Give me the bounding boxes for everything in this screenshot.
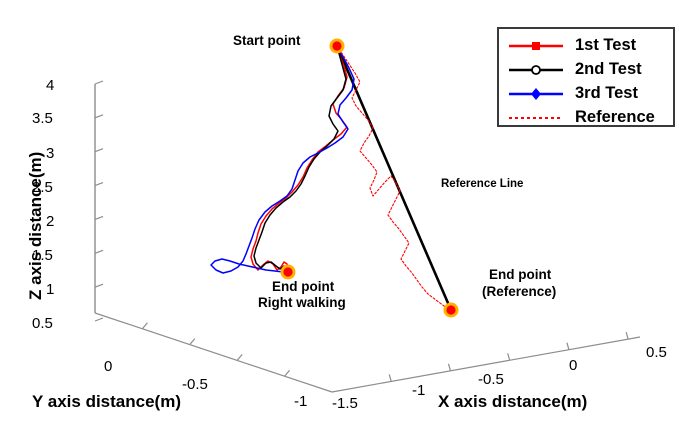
legend-label-3: Reference [575, 108, 655, 127]
legend-item-3[interactable]: Reference [499, 105, 673, 130]
z-tick-mark-2 [95, 149, 103, 152]
legend-item-0[interactable]: 1st Test [499, 33, 673, 58]
z-tick-mark-0 [95, 81, 103, 84]
reference-end-point-sublabel: (Reference) [482, 284, 556, 300]
end-point-label: End point [272, 279, 334, 295]
x-axis-title: X axis distance(m) [438, 392, 587, 412]
x-tick-mark-3 [508, 353, 510, 360]
y-tick-mark-1 [142, 323, 147, 329]
reference-end-marker [446, 305, 455, 314]
x-tick-label-2: -0.5 [478, 371, 504, 388]
series-path-2 [211, 46, 354, 273]
z-tick-mark-3 [95, 183, 103, 186]
z-tick-label-2: 3 [46, 145, 54, 162]
reference-line [337, 46, 451, 310]
legend-item-1[interactable]: 2nd Test [499, 57, 673, 82]
y-tick-mark-3 [237, 354, 242, 360]
y-axis-spine [95, 313, 332, 392]
y-axis-title: Y axis distance(m) [32, 392, 181, 412]
y-tick-label-0: 0 [104, 358, 112, 375]
end-point-marker [283, 267, 292, 276]
axis-lines [95, 84, 640, 392]
legend-sample-0 [505, 35, 567, 57]
legend-marker-diamond-2 [531, 88, 541, 100]
z-tick-label-1: 3.5 [32, 110, 53, 127]
z-tick-mark-1 [95, 115, 103, 118]
legend-marker-square-0 [532, 42, 540, 50]
legend-marker-circle-1 [532, 66, 540, 74]
z-tick-label-4: 2 [46, 213, 54, 230]
y-tick-mark-4 [285, 370, 290, 376]
z-tick-label-0: 4 [46, 77, 54, 94]
y-tick-mark-2 [190, 339, 195, 345]
legend: 1st Test2nd Test3rd TestReference [497, 27, 675, 127]
legend-label-1: 2nd Test [575, 60, 642, 79]
x-tick-label-3: 0 [569, 357, 577, 374]
z-tick-label-6: 1 [46, 281, 54, 298]
series-path-1 [254, 46, 346, 271]
legend-label-2: 3rd Test [575, 84, 638, 103]
reference-line-label: Reference Line [441, 178, 523, 192]
legend-sample-2 [505, 83, 567, 105]
x-tick-label-4: 0.5 [646, 344, 667, 361]
reference-end-point-label: End point [489, 267, 551, 283]
z-tick-mark-5 [95, 250, 103, 253]
reference-straight-line [337, 46, 451, 310]
legend-item-2[interactable]: 3rd Test [499, 81, 673, 106]
x-tick-label-1: -1 [412, 382, 425, 399]
right-walking-label: Right walking [258, 295, 346, 311]
x-tick-mark-2 [448, 364, 450, 371]
legend-label-0: 1st Test [575, 36, 636, 55]
x-tick-mark-4 [567, 343, 569, 350]
z-tick-mark-7 [95, 318, 103, 321]
y-tick-label-2: -1 [294, 393, 307, 410]
z-tick-label-7: 0.5 [32, 315, 53, 332]
legend-sample-1 [505, 59, 567, 81]
data-series-group [211, 46, 451, 310]
x-tick-label-0: -1.5 [332, 395, 358, 412]
x-tick-mark-1 [389, 374, 391, 381]
z-tick-mark-6 [95, 284, 103, 287]
start-point-label: Start point [233, 33, 301, 49]
z-tick-mark-4 [95, 216, 103, 219]
legend-sample-3 [505, 107, 567, 129]
point-markers [281, 39, 459, 318]
chart-figure: 43.532.521.510.5 0-0.5-1 -1.5-1-0.500.5 … [0, 0, 688, 445]
start-point-marker [332, 41, 341, 50]
z-axis-title: Z axis distance(m) [26, 152, 46, 300]
series-path-0 [251, 46, 347, 272]
y-tick-label-1: -0.5 [182, 376, 208, 393]
x-tick-mark-5 [626, 332, 628, 339]
